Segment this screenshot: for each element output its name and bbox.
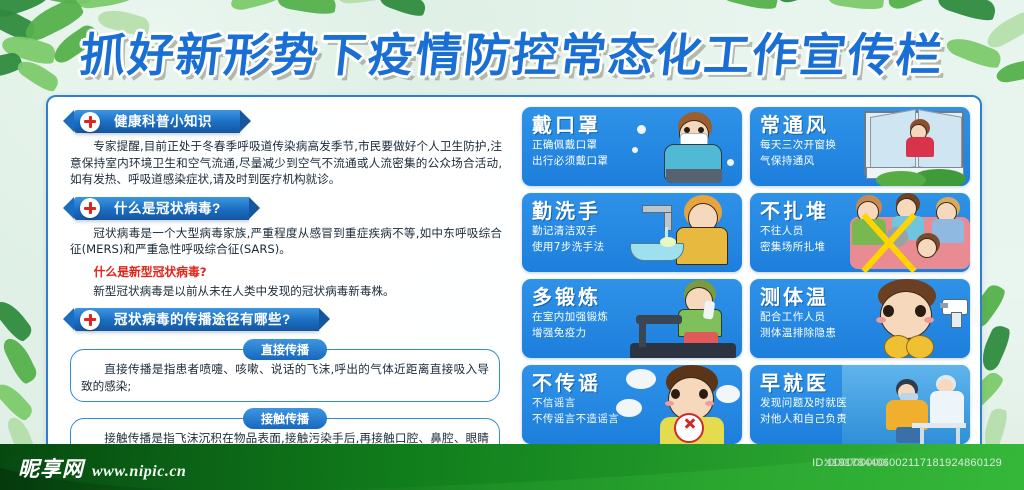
content-board: 健康科普小知识 专家提醒,目前正处于冬春季呼吸道传染病高发季节,市民要做好个人卫… bbox=[46, 95, 982, 454]
card-line1: 配合工作人员 bbox=[760, 310, 836, 324]
watermark-overlay-text: XXXXXXXXXX bbox=[824, 457, 887, 469]
card-heading: 戴口罩 bbox=[532, 114, 608, 136]
card-illustration-handwashing bbox=[614, 193, 742, 272]
card-wash-hands: 勤洗手 勤记清洁双手 使用7步洗手法 bbox=[522, 193, 742, 272]
brand-url: www.nipic.cn bbox=[92, 463, 186, 481]
section-heading-health-tips: 健康科普小知识 bbox=[74, 110, 240, 133]
section-body-health-tips: 专家提醒,目前正处于冬春季呼吸道传染病高发季节,市民要做好个人卫生防护,注意保持… bbox=[70, 138, 502, 188]
title-banner: 抓好新形势下疫情防控常态化工作宣传栏 bbox=[0, 24, 1024, 86]
section-red-question: 什么是新型冠状病毒? bbox=[70, 264, 502, 280]
card-line1: 在室内加强锻炼 bbox=[532, 310, 608, 324]
medical-cross-icon bbox=[80, 112, 100, 132]
card-text: 戴口罩 正确佩戴口罩 出行必须戴口罩 bbox=[532, 114, 608, 168]
card-line2: 使用7步洗手法 bbox=[532, 240, 604, 254]
card-illustration-treadmill-running bbox=[614, 279, 742, 358]
section-heading-label: 健康科普小知识 bbox=[114, 114, 212, 129]
section-heading-what-is-coronavirus: 什么是冠状病毒? bbox=[74, 197, 249, 220]
card-line2: 增强免疫力 bbox=[532, 326, 608, 340]
transmission-body: 直接传播是指患者喷嚏、咳嗽、说话的飞沫,呼出的气体近距离直接吸入导致的感染; bbox=[81, 361, 489, 394]
section-heading-label: 冠状病毒的传播途径有哪些? bbox=[114, 312, 291, 327]
brand-name-zh: 昵享网 bbox=[18, 453, 84, 483]
card-heading: 多锻炼 bbox=[532, 286, 608, 308]
card-ventilate: 常通风 每天三次开窗换 气保持通风 bbox=[750, 107, 970, 186]
section-heading-label: 什么是冠状病毒? bbox=[114, 201, 221, 216]
card-line1: 勤记清洁双手 bbox=[532, 224, 604, 238]
poster-title: 抓好新形势下疫情防控常态化工作宣传栏 bbox=[77, 29, 946, 81]
card-text: 勤洗手 勤记清洁双手 使用7步洗手法 bbox=[532, 200, 604, 254]
transmission-box-direct: 直接传播 直接传播是指患者喷嚏、咳嗽、说话的飞沫,呼出的气体近距离直接吸入导致的… bbox=[70, 349, 500, 402]
brand-block: 昵享网 www.nipic.cn bbox=[18, 453, 186, 483]
card-line1: 发现问题及时就医 bbox=[760, 396, 847, 410]
poster-root: 抓好新形势下疫情防控常态化工作宣传栏 健康科普小知识 专家提醒,目前正处于冬春季… bbox=[0, 0, 1024, 490]
card-heading: 勤洗手 bbox=[532, 200, 604, 222]
card-illustration-medical-consultation bbox=[842, 365, 970, 444]
card-line2: 不传谣言不造谣言 bbox=[532, 412, 619, 426]
card-heading: 不扎堆 bbox=[760, 200, 829, 222]
card-line1: 不信谣言 bbox=[532, 396, 619, 410]
card-heading: 测体温 bbox=[760, 286, 836, 308]
card-illustration-boy-with-mask bbox=[614, 107, 742, 186]
card-illustration-temperature-check bbox=[842, 279, 970, 358]
poster-title-text: 抓好新形势下疫情防控常态化工作宣传栏 bbox=[77, 28, 947, 82]
section-body-what-is-coronavirus: 冠状病毒是一个大型病毒家族,严重程度从感冒到重症疾病不等,如中东呼吸综合征(ME… bbox=[70, 225, 502, 258]
asset-id-text: ID:1191734406002117181924860129 XXXXXXXX… bbox=[812, 457, 1002, 469]
card-no-rumors: 不传谣 不信谣言 不传谣言不造谣言 bbox=[522, 365, 742, 444]
footer-bar: 昵享网 www.nipic.cn ID:11917344060021171819… bbox=[0, 444, 1024, 490]
card-temperature: 测体温 配合工作人员 测体温排除隐患 bbox=[750, 279, 970, 358]
section-body-novel-coronavirus: 新型冠状病毒是以前从未在人类中发现的冠状病毒新毒株。 bbox=[70, 283, 502, 300]
card-heading: 常通风 bbox=[760, 114, 836, 136]
card-text: 测体温 配合工作人员 测体温排除隐患 bbox=[760, 286, 836, 340]
card-line2: 气保持通风 bbox=[760, 154, 836, 168]
transmission-label: 直接传播 bbox=[243, 339, 327, 360]
card-line2: 测体温排除隐患 bbox=[760, 326, 836, 340]
card-line1: 正确佩戴口罩 bbox=[532, 138, 608, 152]
medical-cross-icon bbox=[80, 198, 100, 218]
left-text-column: 健康科普小知识 专家提醒,目前正处于冬春季呼吸道传染病高发季节,市民要做好个人卫… bbox=[48, 97, 518, 452]
card-heading: 不传谣 bbox=[532, 372, 619, 394]
card-text: 常通风 每天三次开窗换 气保持通风 bbox=[760, 114, 836, 168]
card-line2: 出行必须戴口罩 bbox=[532, 154, 608, 168]
transmission-label: 接触传播 bbox=[243, 408, 327, 429]
card-illustration-window-ventilation bbox=[842, 107, 970, 186]
card-text: 多锻炼 在室内加强锻炼 增强免疫力 bbox=[532, 286, 608, 340]
medical-cross-icon bbox=[80, 310, 100, 330]
card-illustration-crowd-gathering-prohibited bbox=[842, 193, 970, 272]
card-mask: 戴口罩 正确佩戴口罩 出行必须戴口罩 bbox=[522, 107, 742, 186]
card-exercise: 多锻炼 在室内加强锻炼 增强免疫力 bbox=[522, 279, 742, 358]
card-heading: 早就医 bbox=[760, 372, 847, 394]
card-line1: 不往人员 bbox=[760, 224, 829, 238]
card-illustration-no-rumors-boy bbox=[614, 365, 742, 444]
card-text: 不传谣 不信谣言 不传谣言不造谣言 bbox=[532, 372, 619, 426]
card-no-crowds: 不扎堆 不往人员 密集场所扎堆 bbox=[750, 193, 970, 272]
section-heading-transmission-routes: 冠状病毒的传播途径有哪些? bbox=[74, 308, 319, 331]
card-line2: 密集场所扎堆 bbox=[760, 240, 829, 254]
card-line1: 每天三次开窗换 bbox=[760, 138, 836, 152]
card-line2: 对他人和自己负责 bbox=[760, 412, 847, 426]
card-text: 不扎堆 不往人员 密集场所扎堆 bbox=[760, 200, 829, 254]
card-text: 早就医 发现问题及时就医 对他人和自己负责 bbox=[760, 372, 847, 426]
prevention-cards-grid: 戴口罩 正确佩戴口罩 出行必须戴口罩 bbox=[518, 97, 980, 452]
card-seek-care: 早就医 发现问题及时就医 对他人和自己负责 bbox=[750, 365, 970, 444]
